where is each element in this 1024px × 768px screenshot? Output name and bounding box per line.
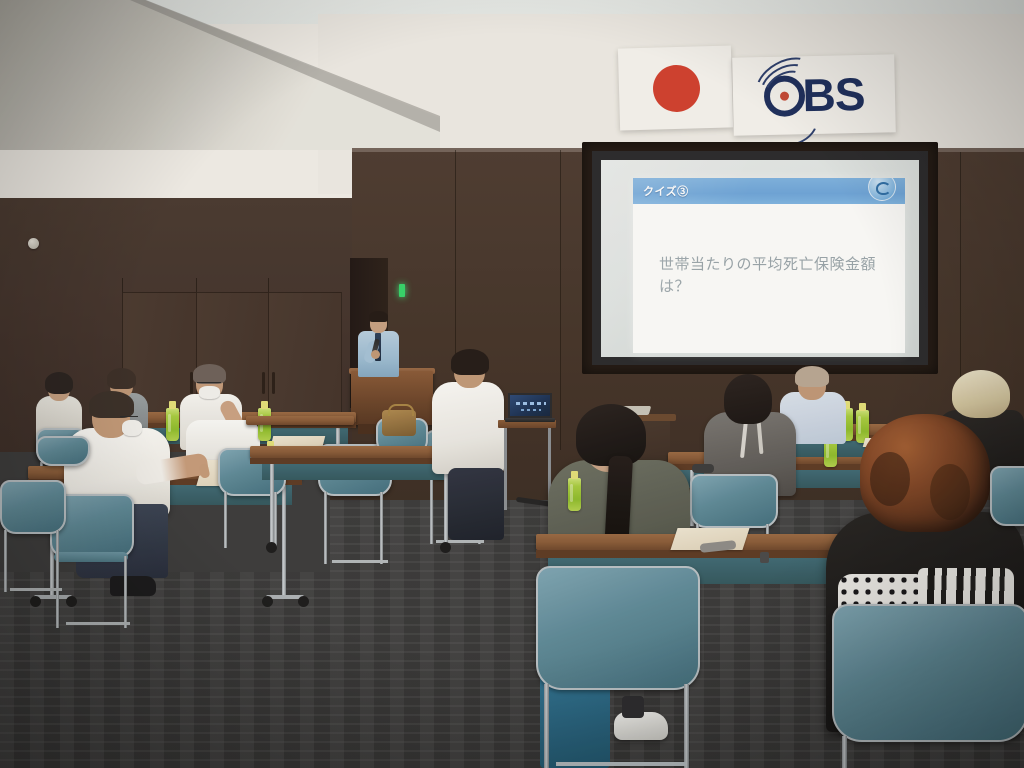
- cabinet-handle[interactable]: [272, 372, 275, 394]
- laptop-screen-text: [516, 402, 546, 405]
- presenter: [354, 313, 402, 375]
- attendee-hair: [451, 349, 489, 375]
- presenter-laptop[interactable]: [508, 393, 552, 421]
- desk-modesty-panel: [262, 464, 452, 480]
- presenter-hair: [369, 311, 388, 322]
- cabinet-handle[interactable]: [262, 372, 265, 394]
- attendee-hair: [193, 364, 226, 384]
- desk: [246, 416, 354, 425]
- green-tea-bottle: [568, 478, 581, 511]
- attendee-shoe: [110, 576, 156, 596]
- face-mask-icon: [199, 386, 220, 399]
- laptop-screen-text: [521, 409, 541, 411]
- eyeglasses-icon: [692, 464, 714, 473]
- laptop-table-leg: [504, 428, 507, 510]
- attendee-ankle: [622, 696, 644, 718]
- desk-caster: [266, 542, 277, 553]
- seminar-room-photo: BS クイズ③ 世帯当たりの平均死亡保険金額は？: [0, 0, 1024, 768]
- obs-logo-sign: BS: [732, 54, 896, 135]
- handout-paper: [271, 436, 325, 446]
- wall-seam: [560, 150, 561, 450]
- attendee-hair: [952, 370, 1010, 418]
- laptop-base: [505, 418, 555, 422]
- slide-body-text: 世帯当たりの平均死亡保険金額は？: [659, 254, 889, 298]
- desk-small-object: [760, 552, 769, 563]
- desk-leg: [270, 464, 274, 544]
- exit-light-icon: [399, 284, 405, 297]
- desk-caster: [440, 542, 451, 553]
- desk-caster: [262, 596, 273, 607]
- attendee-hair: [89, 391, 134, 418]
- desk-caster: [298, 596, 309, 607]
- laptop-screen: [508, 393, 552, 418]
- attendee-trousers: [448, 468, 504, 540]
- flag-sun-disc-icon: [652, 64, 700, 112]
- green-tea-bottle: [166, 408, 179, 441]
- attendee-torso: [432, 382, 504, 474]
- attendee-hair: [724, 374, 772, 424]
- bag-handle: [388, 404, 414, 416]
- presenter-hand: [371, 350, 380, 359]
- slide-header-label: クイズ③: [643, 183, 689, 199]
- desk: [250, 446, 462, 458]
- wall-sensor-icon: [28, 238, 39, 249]
- attendee-hair: [45, 372, 73, 394]
- attendee-hair-curl: [870, 452, 910, 506]
- desk-caster: [66, 596, 77, 607]
- obs-o-circle-icon: [763, 75, 805, 117]
- desk-leg: [282, 485, 286, 595]
- face-mask-icon: [122, 420, 142, 436]
- projected-slide: クイズ③ 世帯当たりの平均死亡保険金額は？: [633, 178, 905, 353]
- attendee-hair: [795, 366, 829, 387]
- japanese-flag-sign: [618, 45, 733, 130]
- attendee-hair-curl: [930, 464, 970, 520]
- attendee-hair: [107, 368, 136, 389]
- desk-caster: [30, 596, 41, 607]
